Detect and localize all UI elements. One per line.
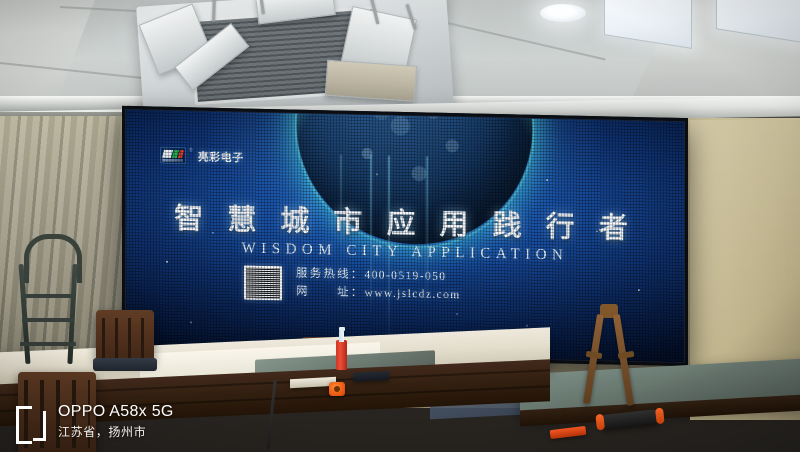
contact-block: 服务热线： 400-0519-050 网 址： www.jslcdz.com	[244, 264, 461, 304]
headline-block: 智 慧 城 市 应 用 践 行 者 WISDOM CITY APPLICATIO…	[126, 194, 684, 267]
hotline-value: 400-0519-050	[365, 267, 447, 287]
registered-symbol: ®	[189, 147, 193, 153]
ac-vane	[325, 60, 417, 102]
room-interior: ® 亮彩电子 智 慧 城 市 应 用 践 行 者 WISDOM CITY APP…	[0, 0, 800, 452]
step-ladder	[14, 240, 80, 345]
website-label: 网 址：	[296, 283, 365, 302]
notebook	[353, 371, 389, 382]
utility-knife	[550, 426, 587, 439]
downlight-icon	[540, 4, 586, 22]
chair-seat	[93, 358, 157, 371]
oppo-shot-on-logo-icon	[16, 406, 46, 438]
brand-logo-row: ® 亮彩电子	[160, 147, 244, 166]
chair-back	[96, 310, 154, 362]
watermark-location: 江苏省，扬州市	[58, 423, 174, 440]
watermark-model: OPPO A58x 5G	[58, 403, 174, 421]
photo-screenshot: ® 亮彩电子 智 慧 城 市 应 用 践 行 者 WISDOM CITY APP…	[0, 0, 800, 452]
qr-code[interactable]	[244, 265, 282, 300]
hotline-label: 服务热线：	[296, 266, 365, 285]
wooden-easel-tripod	[578, 310, 644, 402]
qr-code-pattern	[246, 267, 280, 298]
liangcai-logo-mark-icon	[160, 147, 186, 165]
watermark-text: OPPO A58x 5G 江苏省，扬州市	[58, 403, 174, 440]
contact-lines: 服务热线： 400-0519-050 网 址： www.jslcdz.com	[296, 266, 461, 305]
tape-measure	[329, 382, 345, 396]
website-value: www.jslcdz.com	[365, 285, 461, 305]
water-bottle	[336, 330, 347, 370]
camera-watermark: OPPO A58x 5G 江苏省，扬州市	[16, 403, 174, 440]
brand-name: 亮彩电子	[198, 148, 244, 165]
website-line: 网 址： www.jslcdz.com	[296, 283, 461, 304]
